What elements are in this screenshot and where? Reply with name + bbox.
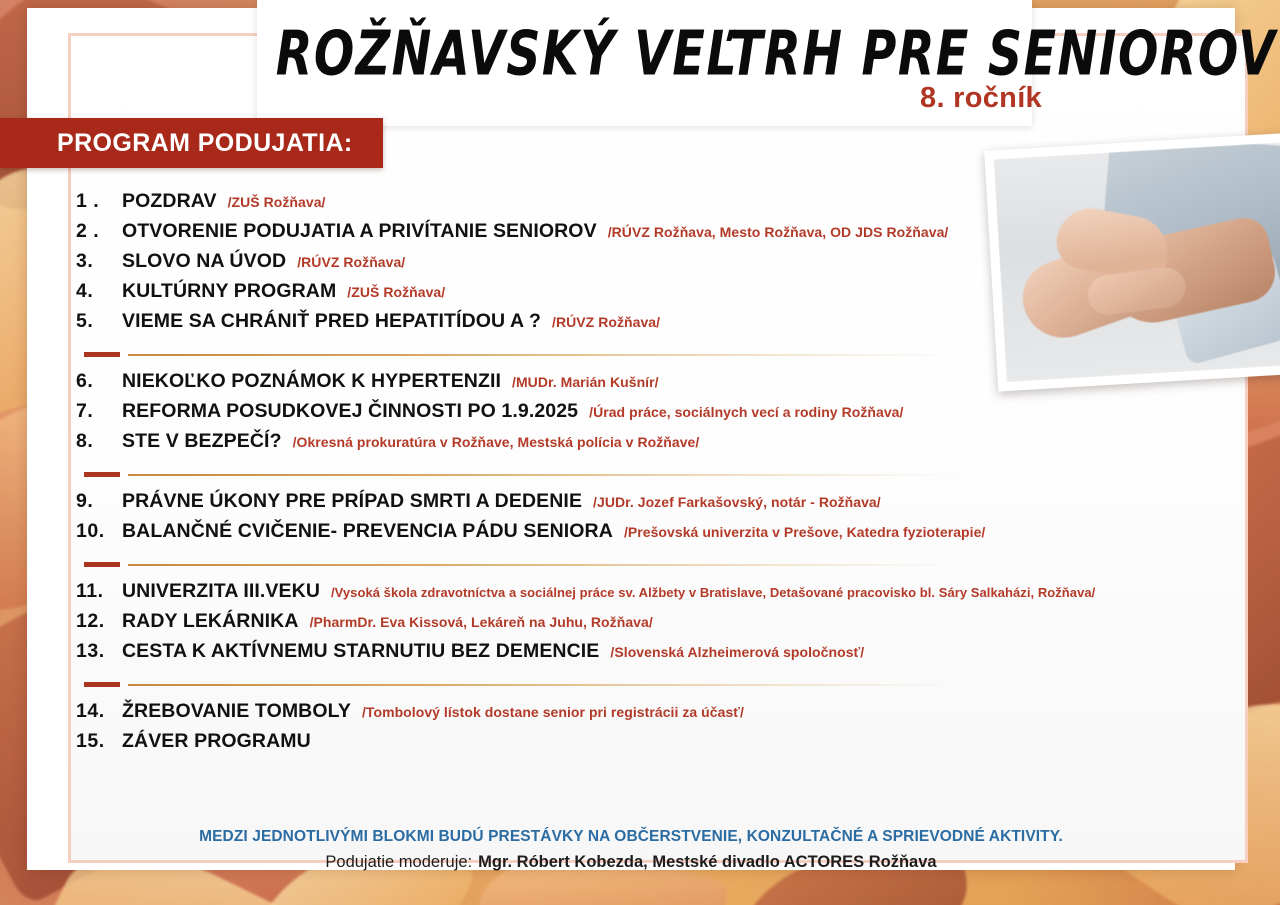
program-item-presenter: /ZUŠ Rožňava/ <box>347 284 445 300</box>
program-item-title: OTVORENIE PODUJATIA A PRIVÍTANIE SENIORO… <box>122 220 597 243</box>
program-group: 6.NIEKOĽKO POZNÁMOK K HYPERTENZII/MUDr. … <box>76 370 1206 460</box>
program-item-title: PRÁVNE ÚKONY PRE PRÍPAD SMRTI A DEDENIE <box>122 490 582 513</box>
program-item-presenter: /RÚVZ Rožňava/ <box>552 314 660 330</box>
program-item-presenter: /Slovenská Alzheimerová spoločnosť/ <box>610 644 864 660</box>
program-item-presenter: /RÚVZ Rožňava/ <box>297 254 405 270</box>
program-group: 1 .POZDRAV/ZUŠ Rožňava/2 .OTVORENIE PODU… <box>76 190 1206 340</box>
program-item-title: STE V BEZPEČÍ? <box>122 430 282 453</box>
program-item-presenter: /ZUŠ Rožňava/ <box>228 194 326 210</box>
program-item-title: BALANČNÉ CVIČENIE- PREVENCIA PÁDU SENIOR… <box>122 520 613 543</box>
program-item: 3.SLOVO NA ÚVOD/RÚVZ Rožňava/ <box>76 250 1206 280</box>
program-item: 9.PRÁVNE ÚKONY PRE PRÍPAD SMRTI A DEDENI… <box>76 490 1206 520</box>
program-item-number: 3. <box>76 250 122 273</box>
program-item-number: 8. <box>76 430 122 453</box>
program-item-presenter: /Vysoká škola zdravotníctva a sociálnej … <box>331 585 1095 600</box>
program-item: 7.REFORMA POSUDKOVEJ ČINNOSTI PO 1.9.202… <box>76 400 1206 430</box>
program-item-number: 10. <box>76 520 122 543</box>
page-title: ROŽŇAVSKÝ VEĽTRH PRE SENIOROV <box>276 18 1019 90</box>
event-poster: ROŽŇAVSKÝ VEĽTRH PRE SENIOROV 8. ročník … <box>0 0 1280 905</box>
program-item-presenter: /Úrad práce, sociálnych vecí a rodiny Ro… <box>589 404 903 420</box>
program-item: 10.BALANČNÉ CVIČENIE- PREVENCIA PÁDU SEN… <box>76 520 1206 550</box>
program-item-title: NIEKOĽKO POZNÁMOK K HYPERTENZII <box>122 370 501 393</box>
program-item-title: VIEME SA CHRÁNIŤ PRED HEPATITÍDOU A ? <box>122 310 541 333</box>
program-item-number: 11. <box>76 580 122 603</box>
program-group: 14.ŽREBOVANIE TOMBOLY/Tombolový lístok d… <box>76 700 1206 760</box>
program-item-title: POZDRAV <box>122 190 217 213</box>
program-item: 4.KULTÚRNY PROGRAM/ZUŠ Rožňava/ <box>76 280 1206 310</box>
program-item-presenter: /Prešovská univerzita v Prešove, Katedra… <box>624 524 985 540</box>
program-group: 9.PRÁVNE ÚKONY PRE PRÍPAD SMRTI A DEDENI… <box>76 490 1206 550</box>
program-item-title: KULTÚRNY PROGRAM <box>122 280 336 303</box>
program-item-presenter: /Tombolový lístok dostane senior pri reg… <box>362 704 744 720</box>
program-item-number: 1 . <box>76 190 122 213</box>
program-item-title: SLOVO NA ÚVOD <box>122 250 286 273</box>
program-item: 8.STE V BEZPEČÍ?/Okresná prokuratúra v R… <box>76 430 1206 460</box>
program-item-title: RADY LEKÁRNIKA <box>122 610 299 633</box>
program-item: 5.VIEME SA CHRÁNIŤ PRED HEPATITÍDOU A ?/… <box>76 310 1206 340</box>
host-name: Mgr. Róbert Kobezda, Mestské divadlo ACT… <box>478 853 936 871</box>
program-item-title: UNIVERZITA III.VEKU <box>122 580 320 603</box>
program-item-number: 4. <box>76 280 122 303</box>
program-banner-label: PROGRAM PODUJATIA: <box>57 129 353 158</box>
group-divider <box>76 550 1206 580</box>
program-item: 11.UNIVERZITA III.VEKU/Vysoká škola zdra… <box>76 580 1206 610</box>
host-label: Podujatie moderuje: <box>325 853 472 871</box>
program-item: 12.RADY LEKÁRNIKA/PharmDr. Eva Kissová, … <box>76 610 1206 640</box>
program-item-title: REFORMA POSUDKOVEJ ČINNOSTI PO 1.9.2025 <box>122 400 578 423</box>
host-line: Podujatie moderuje:Mgr. Róbert Kobezda, … <box>41 853 1221 872</box>
program-item-title: CESTA K AKTÍVNEMU STARNUTIU BEZ DEMENCIE <box>122 640 599 663</box>
group-divider <box>76 340 1206 370</box>
program-item-number: 6. <box>76 370 122 393</box>
program-item: 2 .OTVORENIE PODUJATIA A PRIVÍTANIE SENI… <box>76 220 1206 250</box>
program-banner: PROGRAM PODUJATIA: <box>0 118 383 168</box>
program-item: 6.NIEKOĽKO POZNÁMOK K HYPERTENZII/MUDr. … <box>76 370 1206 400</box>
program-item-number: 5. <box>76 310 122 333</box>
program-item-number: 7. <box>76 400 122 423</box>
program-item: 13.CESTA K AKTÍVNEMU STARNUTIU BEZ DEMEN… <box>76 640 1206 670</box>
breaks-note: MEDZI JEDNOTLIVÝMI BLOKMI BUDÚ PRESTÁVKY… <box>41 828 1221 846</box>
group-divider <box>76 460 1206 490</box>
program-item: 14.ŽREBOVANIE TOMBOLY/Tombolový lístok d… <box>76 700 1206 730</box>
program-item-title: ŽREBOVANIE TOMBOLY <box>122 700 351 723</box>
program-item: 15.ZÁVER PROGRAMU <box>76 730 1206 760</box>
program-item: 1 .POZDRAV/ZUŠ Rožňava/ <box>76 190 1206 220</box>
program-group: 11.UNIVERZITA III.VEKU/Vysoká škola zdra… <box>76 580 1206 670</box>
program-item-presenter: /PharmDr. Eva Kissová, Lekáreň na Juhu, … <box>310 614 653 630</box>
program-item-presenter: /MUDr. Marián Kušnír/ <box>512 374 659 390</box>
program-list: 1 .POZDRAV/ZUŠ Rožňava/2 .OTVORENIE PODU… <box>76 190 1206 760</box>
edition-label: 8. ročník <box>920 82 1042 115</box>
program-item-presenter: /Okresná prokuratúra v Rožňave, Mestská … <box>293 434 700 450</box>
program-item-number: 2 . <box>76 220 122 243</box>
program-item-presenter: /RÚVZ Rožňava, Mesto Rožňava, OD JDS Rož… <box>608 224 949 240</box>
program-item-number: 12. <box>76 610 122 633</box>
program-item-number: 14. <box>76 700 122 723</box>
group-divider <box>76 670 1206 700</box>
program-item-number: 15. <box>76 730 122 753</box>
program-item-number: 9. <box>76 490 122 513</box>
program-item-presenter: /JUDr. Jozef Farkašovský, notár - Rožňav… <box>593 494 881 510</box>
program-item-title: ZÁVER PROGRAMU <box>122 730 311 753</box>
program-item-number: 13. <box>76 640 122 663</box>
